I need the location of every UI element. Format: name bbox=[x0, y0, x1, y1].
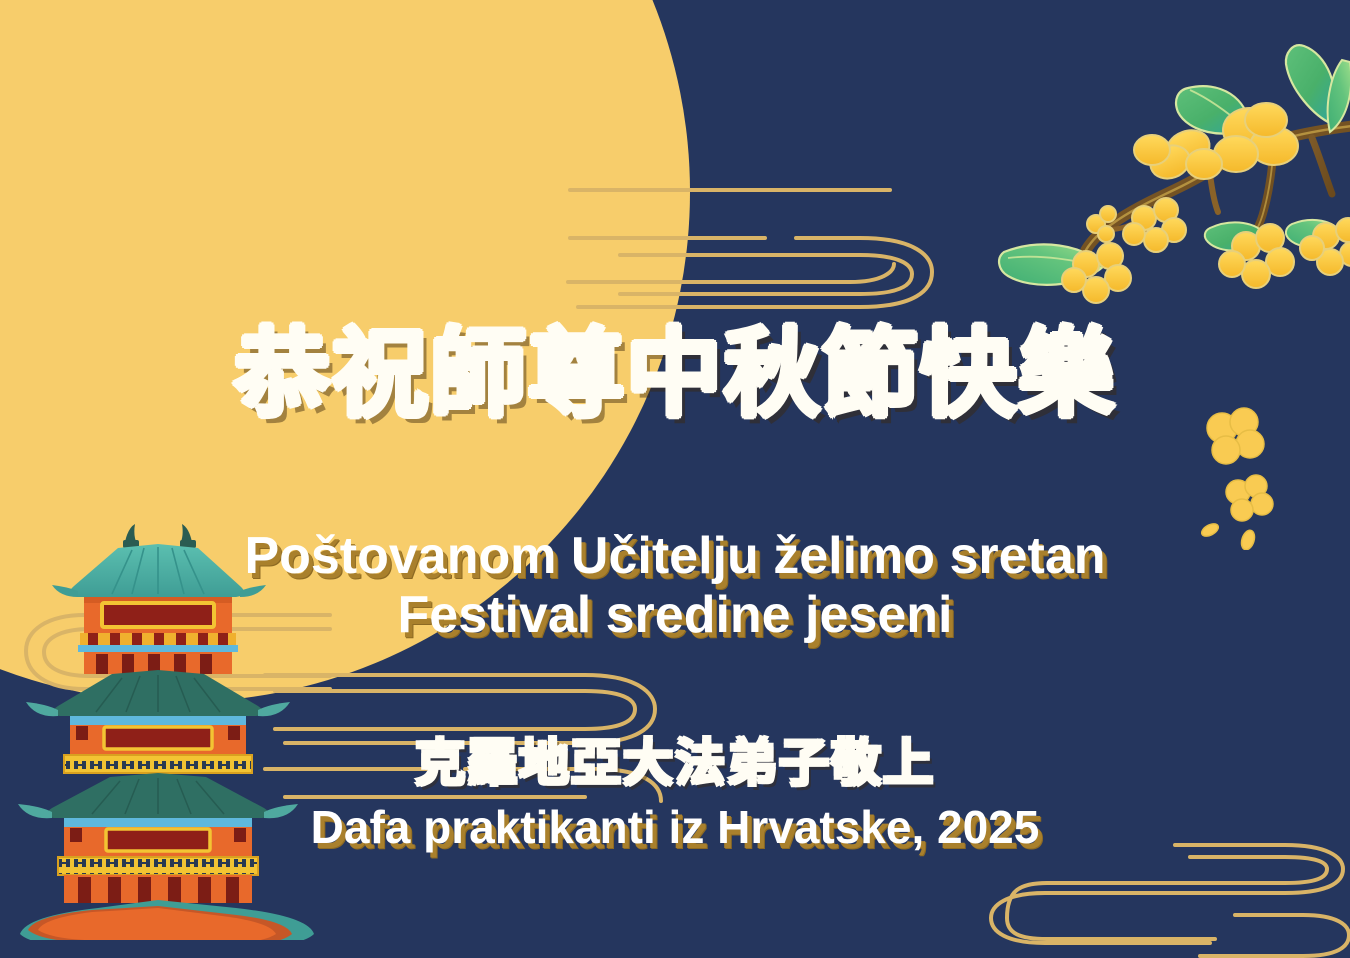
signature-chinese-text: 克羅地亞大法弟子敬上 bbox=[415, 735, 935, 791]
osmanthus-flower-branch bbox=[974, 28, 1350, 358]
greeting-line-1: Poštovanom Učitelju želimo sretan bbox=[0, 527, 1350, 586]
page-title: 恭祝師尊中秋節快樂 bbox=[0, 325, 1350, 426]
greeting-croatian: Poštovanom Učitelju želimo sretan Festiv… bbox=[0, 527, 1350, 645]
signature-croatian: Dafa praktikanti iz Hrvatske, 2025 bbox=[0, 800, 1350, 854]
signature-chinese: 克羅地亞大法弟子敬上 bbox=[0, 723, 1350, 795]
mid-autumn-greeting-poster: 恭祝師尊中秋節快樂 Poštovanom Učitelju želimo sre… bbox=[0, 0, 1350, 958]
greeting-line-2: Festival sredine jeseni bbox=[0, 586, 1350, 645]
headline-chinese: 恭祝師尊中秋節快樂 bbox=[234, 321, 1116, 428]
